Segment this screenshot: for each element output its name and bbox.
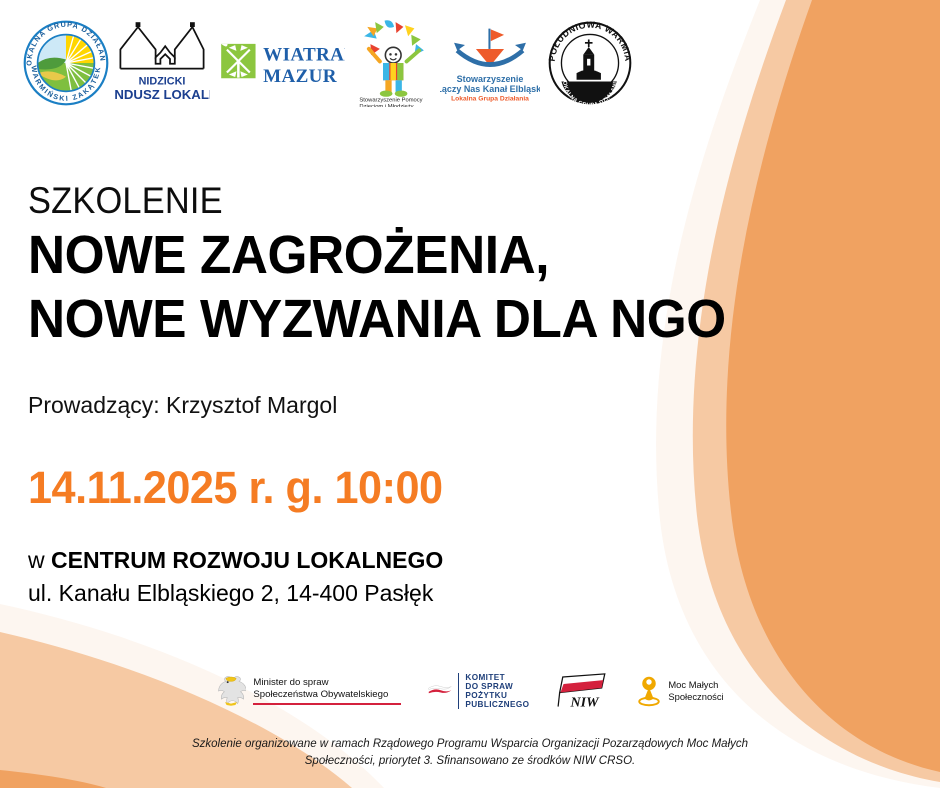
polish-flag-wave-icon [427, 682, 453, 700]
windmill-icon: WIATRAKI MAZUR [217, 35, 345, 91]
swoosh-cream-band [656, 0, 940, 788]
venue-address: ul. Kanału Elbląskiego 2, 14-400 Pasłęk [28, 577, 443, 610]
headline-block: SZKOLENIE NOWE ZAGROŻENIA, NOWE WYZWANIA… [28, 182, 868, 350]
funding-disclaimer: Szkolenie organizowane w ramach Rządoweg… [160, 736, 780, 771]
footer-logo-moc-malych: Moc Małych Społeczności [637, 674, 723, 708]
logo-line2: Dzieciom i Młodzieży [359, 104, 413, 107]
logo-stowarzyszenie-pomocy-dzieciom: Stowarzyszenie Pomocy Dzieciom i Młodzie… [356, 19, 432, 107]
footer-logo-moc-text: Moc Małych Społeczności [668, 679, 723, 703]
logo-line2: Łączy Nas Kanał Elbląski [440, 84, 540, 94]
footer-line1: Minister do spraw [253, 677, 401, 689]
footer-line1: Moc Małych [668, 679, 723, 691]
logo-line1: Stowarzyszenie Pomocy [359, 98, 422, 104]
footer-line3: POŻYTKU [465, 691, 529, 700]
logo-lgd-warminski-zakatek: LOKALNA GRUPA DZIAŁANIA WARMIŃSKI ZAKĄTE… [22, 20, 109, 106]
footer-logo-niw: NIW [555, 672, 611, 710]
footer-logo-komitet-text: KOMITET DO SPRAW POŻYTKU PUBLICZNEGO [458, 673, 529, 709]
kicker-szkolenie: SZKOLENIE [28, 182, 809, 221]
venue-prefix: w [28, 547, 45, 573]
presenter-line: Prowadzący: Krzysztof Margol [28, 392, 337, 419]
venue-block: w CENTRUM ROZWOJU LOKALNEGO ul. Kanału E… [28, 544, 443, 611]
logo-nidzicki-fundusz-lokalny: NIDZICKI FUNDUSZ LOKALNY [113, 22, 210, 104]
footer-logo-komitet: KOMITET DO SPRAW POŻYTKU PUBLICZNEGO [427, 673, 529, 709]
location-pin-icon [637, 674, 661, 708]
logo-line1: NIDZICKI [139, 76, 186, 88]
headline-line-2: NOWE WYZWANIA DLA NGO [28, 289, 826, 349]
circular-emblem-icon: LOKALNA GRUPA DZIAŁANIA WARMIŃSKI ZAKĄTE… [23, 20, 109, 106]
footer-logo-minister-text: Minister do spraw Społeczeństwa Obywatel… [253, 677, 401, 705]
footer-logo-minister: Minister do spraw Społeczeństwa Obywatel… [216, 674, 401, 708]
logo-line1: WIATRAKI [264, 44, 346, 65]
footer-line1: KOMITET [465, 673, 529, 682]
red-underline-rule [253, 703, 401, 705]
logo-wiatraki-mazur: WIATRAKI MAZUR [217, 35, 346, 91]
headline-line-1: NOWE ZAGROŻENIA, [28, 225, 826, 285]
footer-line2: DO SPRAW [465, 682, 529, 691]
logo-line2: FUNDUSZ LOKALNY [114, 87, 210, 102]
venue-name: CENTRUM ROZWOJU LOKALNEGO [51, 547, 443, 573]
poster-canvas: LOKALNA GRUPA DZIAŁANIA WARMIŃSKI ZAKĄTE… [0, 0, 940, 788]
logo-poludniowa-warmia: POŁUDNIOWA WARMIA LOKALNA GRUPA DZIAŁANI… [548, 21, 632, 105]
logo-line3: Lokalna Grupa Działania [451, 96, 529, 103]
footer-line4: PUBLICZNEGO [465, 700, 529, 709]
corner-accent-band [0, 770, 106, 788]
logo-laczy-nas-kanal-elblaski: Stowarzyszenie Łączy Nas Kanał Elbląski … [440, 22, 540, 104]
footer-line2: Społeczności [668, 691, 723, 703]
footer-niw-label: NIW [570, 696, 601, 710]
juggler-figure-icon: Stowarzyszenie Pomocy Dzieciom i Młodzie… [356, 19, 432, 107]
logo-line1: Stowarzyszenie [457, 74, 524, 84]
polish-eagle-icon [216, 674, 246, 708]
swoosh-light-band [693, 0, 940, 782]
swoosh-main-band [726, 0, 940, 772]
partner-logo-strip: LOKALNA GRUPA DZIAŁANIA WARMIŃSKI ZAKĄTE… [22, 18, 632, 108]
footer-line2: Społeczeństwa Obywatelskiego [253, 689, 401, 701]
footer-logo-strip: Minister do spraw Społeczeństwa Obywatel… [0, 672, 940, 710]
castle-outline-icon: NIDZICKI FUNDUSZ LOKALNY [114, 22, 210, 104]
date-time-line: 14.11.2025 r. g. 10:00 [28, 462, 443, 514]
logo-line2: MAZUR [264, 66, 338, 87]
niw-flag-icon: NIW [555, 672, 611, 710]
sailboat-icon: Stowarzyszenie Łączy Nas Kanał Elbląski … [440, 22, 540, 104]
chapel-seal-icon: POŁUDNIOWA WARMIA LOKALNA GRUPA DZIAŁANI… [548, 21, 632, 105]
